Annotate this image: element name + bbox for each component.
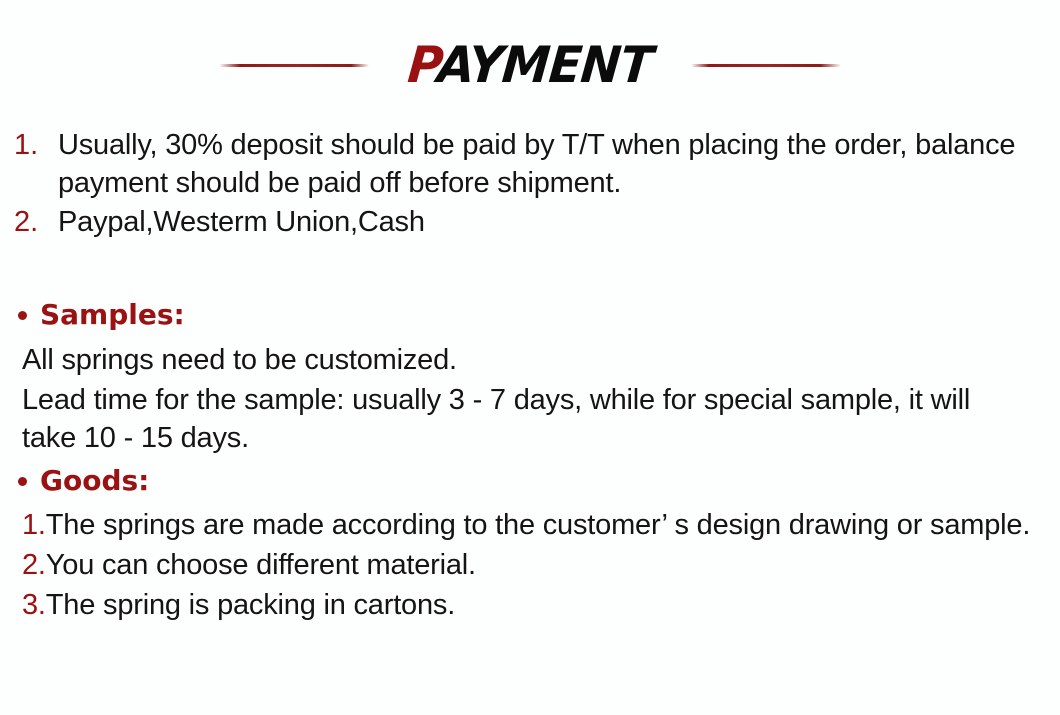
list-item-text: Paypal,Westerm Union,Cash [58,203,1046,241]
list-item-number: 1. [14,126,58,164]
list-item: 1. Usually, 30% deposit should be paid b… [14,126,1046,202]
samples-line: Lead time for the sample: usually 3 - 7 … [22,381,1022,457]
payment-slide: PAYMENT 1. Usually, 30% deposit should b… [0,0,1060,715]
title-rule-left [219,64,369,67]
samples-heading: Samples: [18,298,185,332]
samples-heading-label: Samples: [40,298,185,332]
list-item-text: Usually, 30% deposit should be paid by T… [58,126,1046,202]
list-item-text: The spring is packing in cartons. [46,589,455,621]
goods-heading: Goods: [18,464,149,498]
samples-line: All springs need to be customized. [22,341,1022,379]
page-title: PAYMENT [0,34,1060,96]
title-text: PAYMENT [406,40,654,90]
title-rule-right [691,64,841,67]
list-item-text: The springs are made according to the cu… [46,509,1030,541]
payment-terms-list: 1. Usually, 30% deposit should be paid b… [14,126,1046,242]
goods-heading-label: Goods: [40,464,149,498]
list-item: 1.The springs are made according to the … [22,506,1032,544]
list-item-number: 3. [22,589,46,621]
list-item: 2. Paypal,Westerm Union,Cash [14,203,1046,241]
bullet-icon [18,477,27,486]
list-item: 2.You can choose different material. [22,546,1032,584]
list-item-number: 1. [22,509,46,541]
title-rest: AYMENT [435,36,654,94]
list-item-number: 2. [22,549,46,581]
list-item-number: 2. [14,203,58,241]
list-item-text: You can choose different material. [46,549,476,581]
bullet-icon [18,311,27,320]
samples-body: All springs need to be customized. Lead … [22,341,1022,457]
list-item: 3.The spring is packing in cartons. [22,586,1032,624]
goods-list: 1.The springs are made according to the … [22,506,1032,624]
